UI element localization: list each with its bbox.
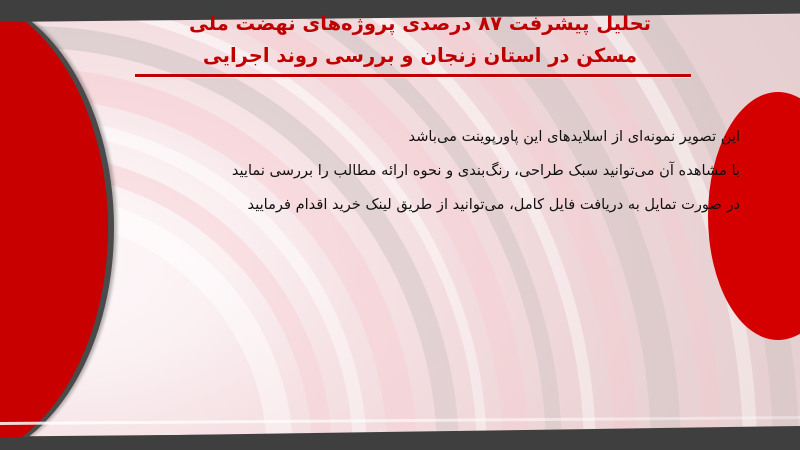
- title-underline-rule: [135, 74, 691, 77]
- slide-body-line-1: این تصویر نمونه‌ای از اسلایدهای این پاور…: [110, 120, 740, 154]
- slide-title: تحلیل پیشرفت ۸۷ درصدی پروژه‌های نهضت ملی…: [150, 8, 690, 71]
- presentation-slide: تحلیل پیشرفت ۸۷ درصدی پروژه‌های نهضت ملی…: [0, 0, 800, 450]
- slide-title-line-1: تحلیل پیشرفت ۸۷ درصدی پروژه‌های نهضت ملی: [150, 8, 690, 40]
- slide-body-line-3: در صورت تمایل به دریافت فایل کامل، می‌تو…: [110, 188, 740, 222]
- slide-body: این تصویر نمونه‌ای از اسلایدهای این پاور…: [110, 120, 740, 222]
- slide-body-line-2: با مشاهده آن می‌توانید سبک طراحی، رنگ‌بن…: [110, 154, 740, 188]
- slide-title-line-2: مسکن در استان زنجان و بررسی روند اجرایی: [150, 40, 690, 72]
